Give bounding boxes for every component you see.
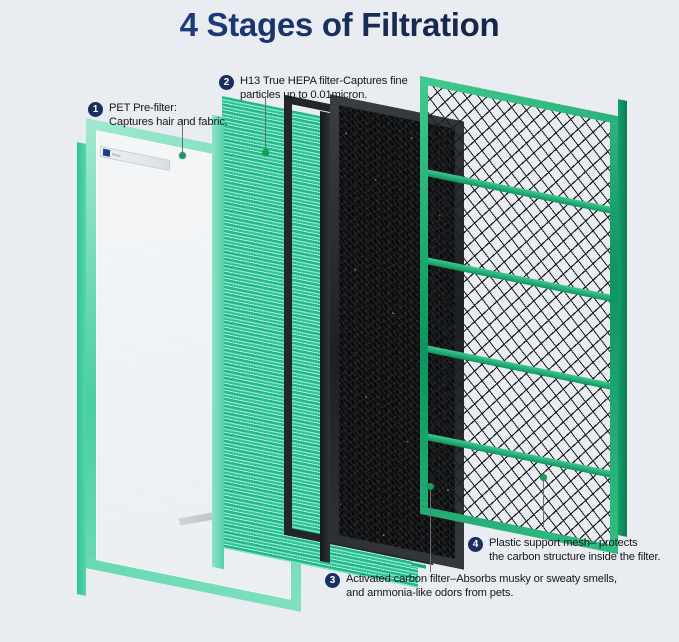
mesh-frame <box>420 76 618 554</box>
layer-support-mesh <box>420 96 618 534</box>
hepa-end-cap <box>212 115 224 569</box>
callout-badge-3: 3 <box>325 573 340 588</box>
callout-dot-4 <box>540 474 547 481</box>
callout-text-2: H13 True HEPA filter-Captures fine parti… <box>240 74 408 102</box>
callout-dot-3 <box>427 483 434 490</box>
brand-logo-icon <box>103 149 110 157</box>
leader-line-3 <box>430 487 431 572</box>
callout-dot-2 <box>262 149 269 156</box>
callout-1: 1 PET Pre-filter: Captures hair and fabr… <box>88 101 228 129</box>
mesh-side-rail <box>618 99 627 537</box>
leader-line-2 <box>265 98 266 153</box>
prefilter-side-rail <box>77 142 86 596</box>
callout-3: 3 Activated carbon filter–Absorbs musky … <box>325 572 617 600</box>
callout-dot-1 <box>179 152 186 159</box>
callout-4: 4 Plastic support mesh– protects the car… <box>468 536 660 564</box>
callout-text-1: PET Pre-filter: Captures hair and fabric… <box>109 101 228 129</box>
carbon-side-rail <box>320 111 330 563</box>
prefilter-sticker-label: Filter <box>112 152 121 158</box>
callout-text-4: Plastic support mesh– protects the carbo… <box>489 536 660 564</box>
callout-badge-1: 1 <box>88 102 103 117</box>
callout-badge-2: 2 <box>219 75 234 90</box>
callout-2: 2 H13 True HEPA filter-Captures fine par… <box>219 74 408 102</box>
callout-badge-4: 4 <box>468 537 483 552</box>
leader-line-4 <box>543 478 544 528</box>
callout-text-3: Activated carbon filter–Absorbs musky or… <box>346 572 617 600</box>
exploded-filter-diagram: Filter 1 PET Pre-filter: C <box>0 0 679 642</box>
